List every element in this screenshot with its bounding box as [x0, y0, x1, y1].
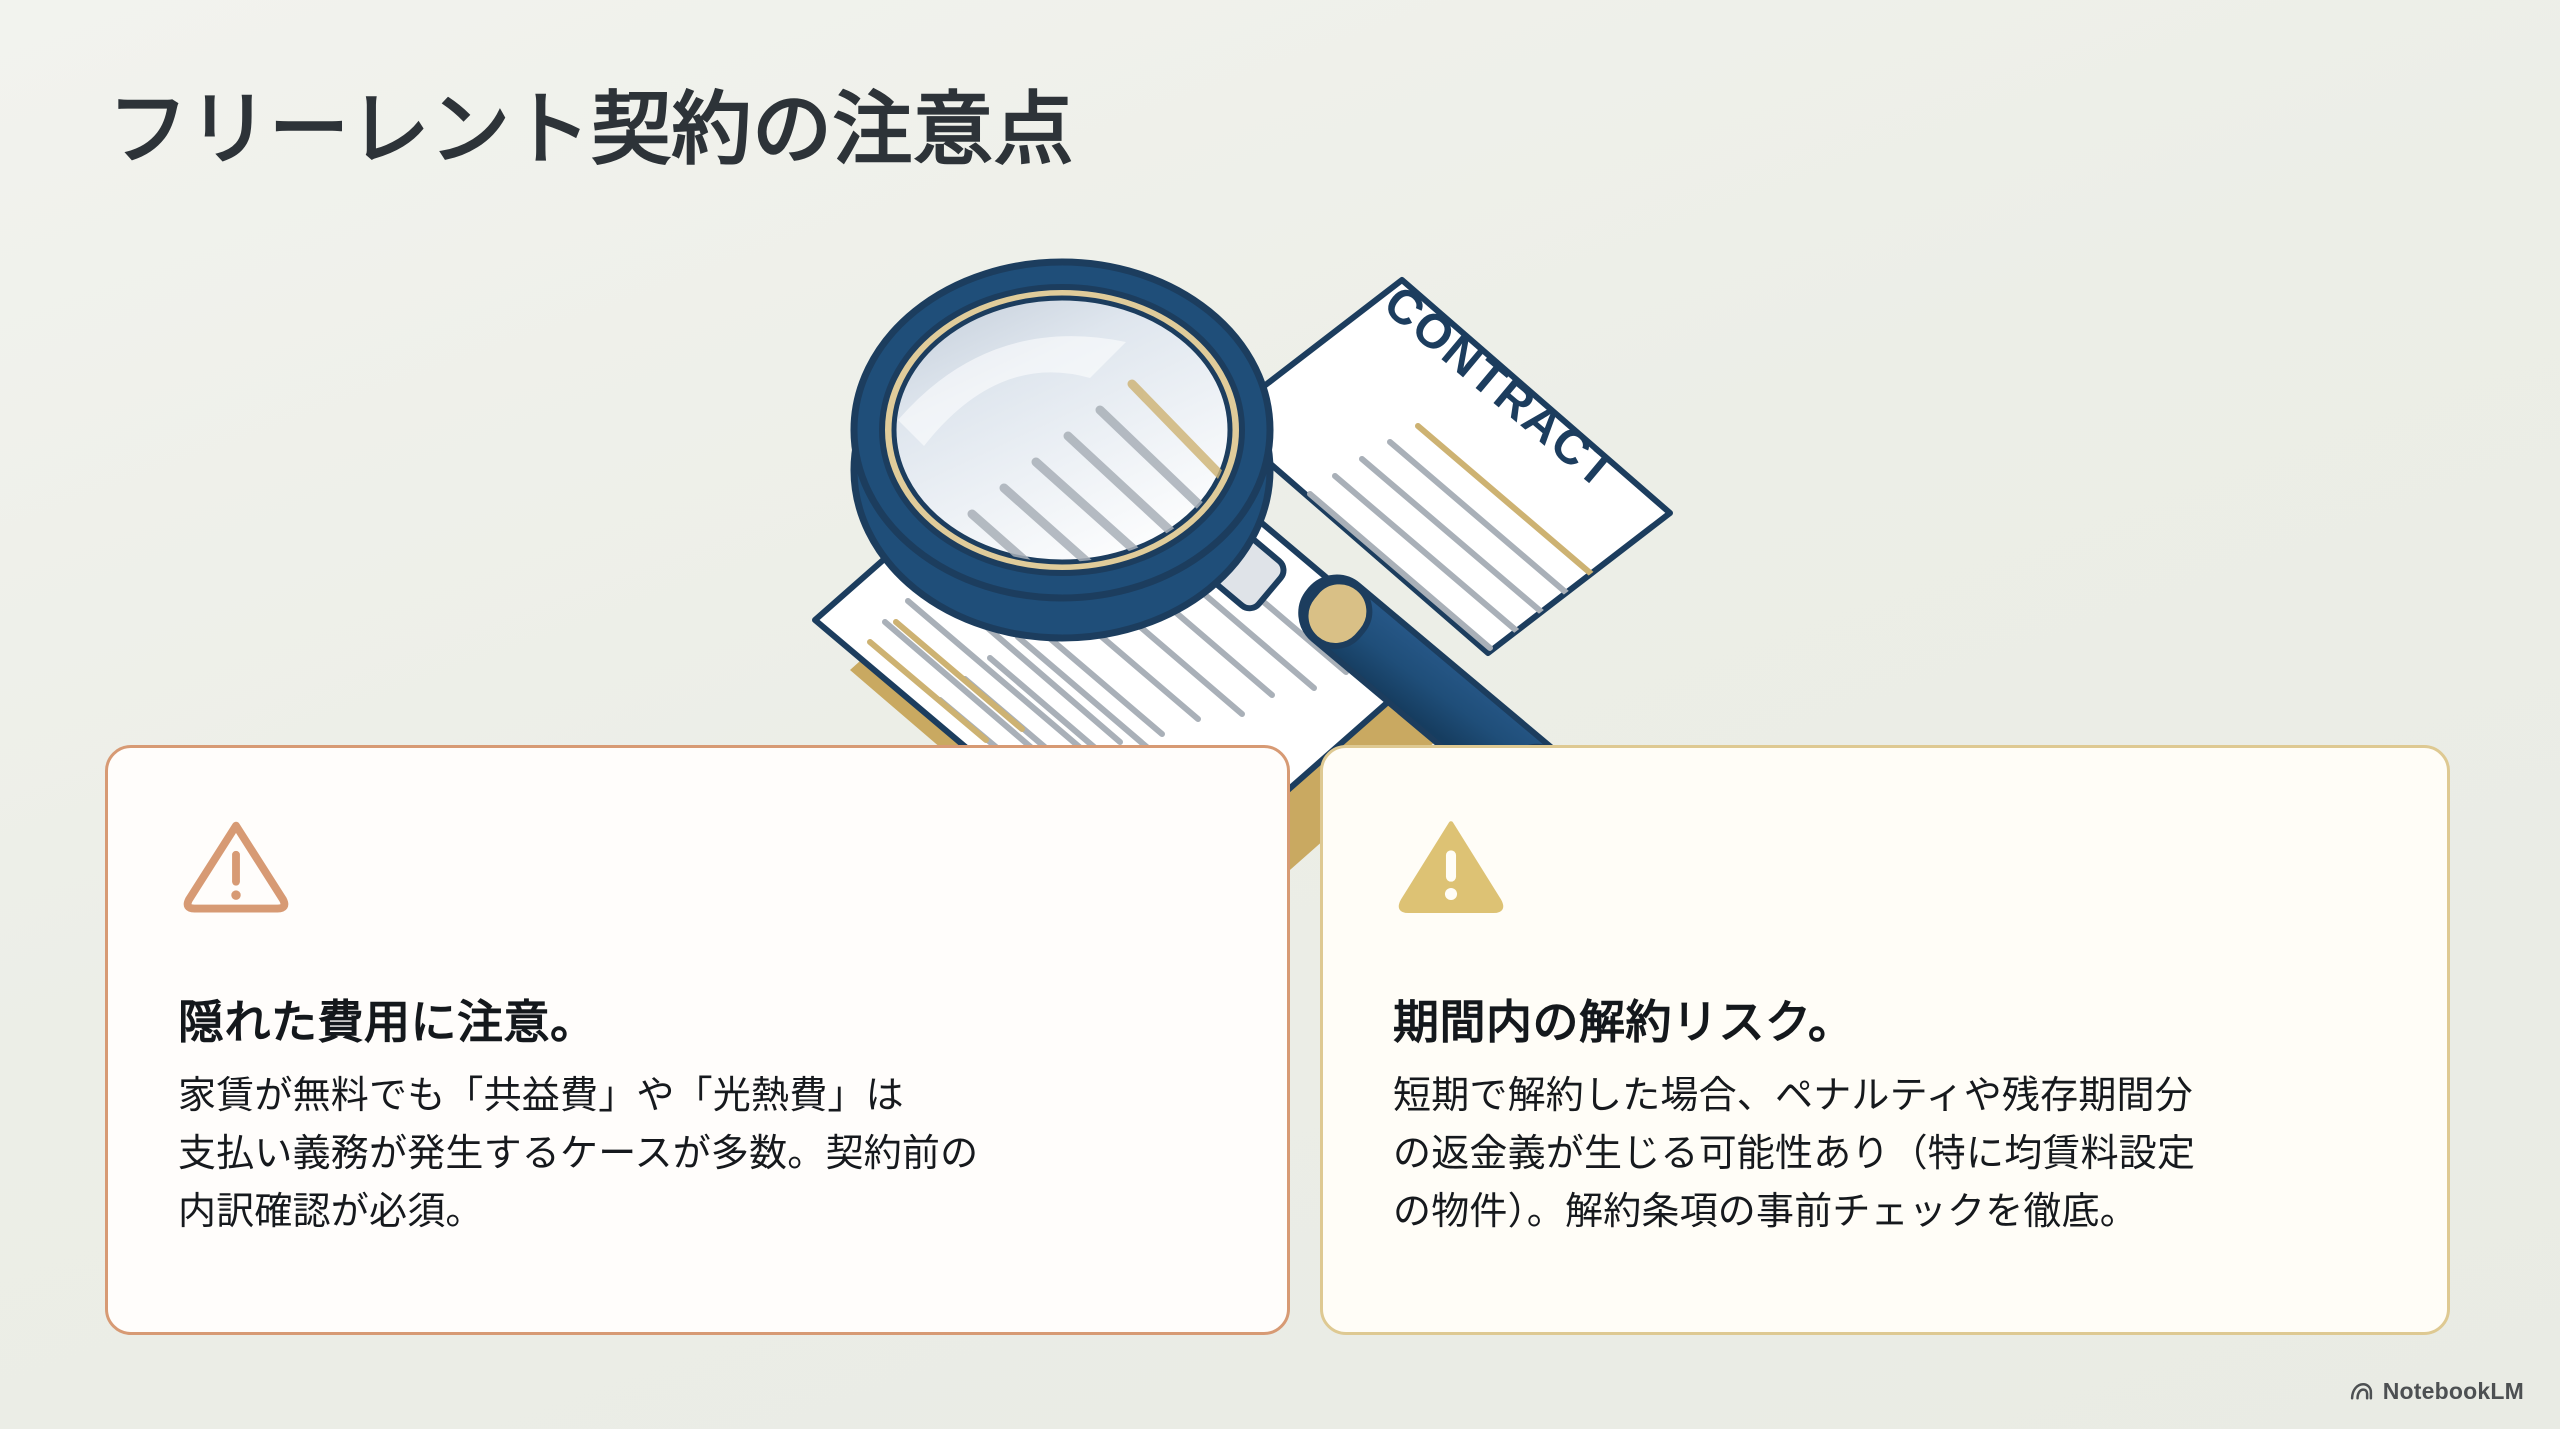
card-heading: 期間内の解約リスク。	[1393, 986, 1854, 1052]
card-body: 家賃が無料でも「共益費」や「光熱費」は 支払い義務が発生するケースが多数。契約前…	[178, 1068, 1237, 1241]
page-title: フリーレント契約の注意点	[108, 88, 1074, 172]
card-hidden-costs[interactable]: 隠れた費用に注意。 家賃が無料でも「共益費」や「光熱費」は 支払い義務が発生する…	[105, 745, 1290, 1335]
notebooklm-watermark-label: NotebookLM	[2383, 1378, 2524, 1405]
warning-triangle-outline-icon	[180, 810, 292, 922]
warning-triangle-filled-icon	[1395, 810, 1507, 922]
slide-canvas: フリーレント契約の注意点	[0, 0, 2560, 1429]
card-cancellation-risk[interactable]: 期間内の解約リスク。 短期で解約した場合、ペナルティや残存期間分 の返金義が生じ…	[1320, 745, 2450, 1335]
magnifier-lens	[854, 262, 1270, 652]
card-heading: 隠れた費用に注意。	[178, 986, 597, 1052]
notebooklm-logo-icon	[2349, 1379, 2374, 1404]
notebooklm-watermark: NotebookLM	[2349, 1378, 2524, 1405]
card-body: 短期で解約した場合、ペナルティや残存期間分 の返金義が生じる可能性あり（特に均賃…	[1393, 1068, 2397, 1241]
